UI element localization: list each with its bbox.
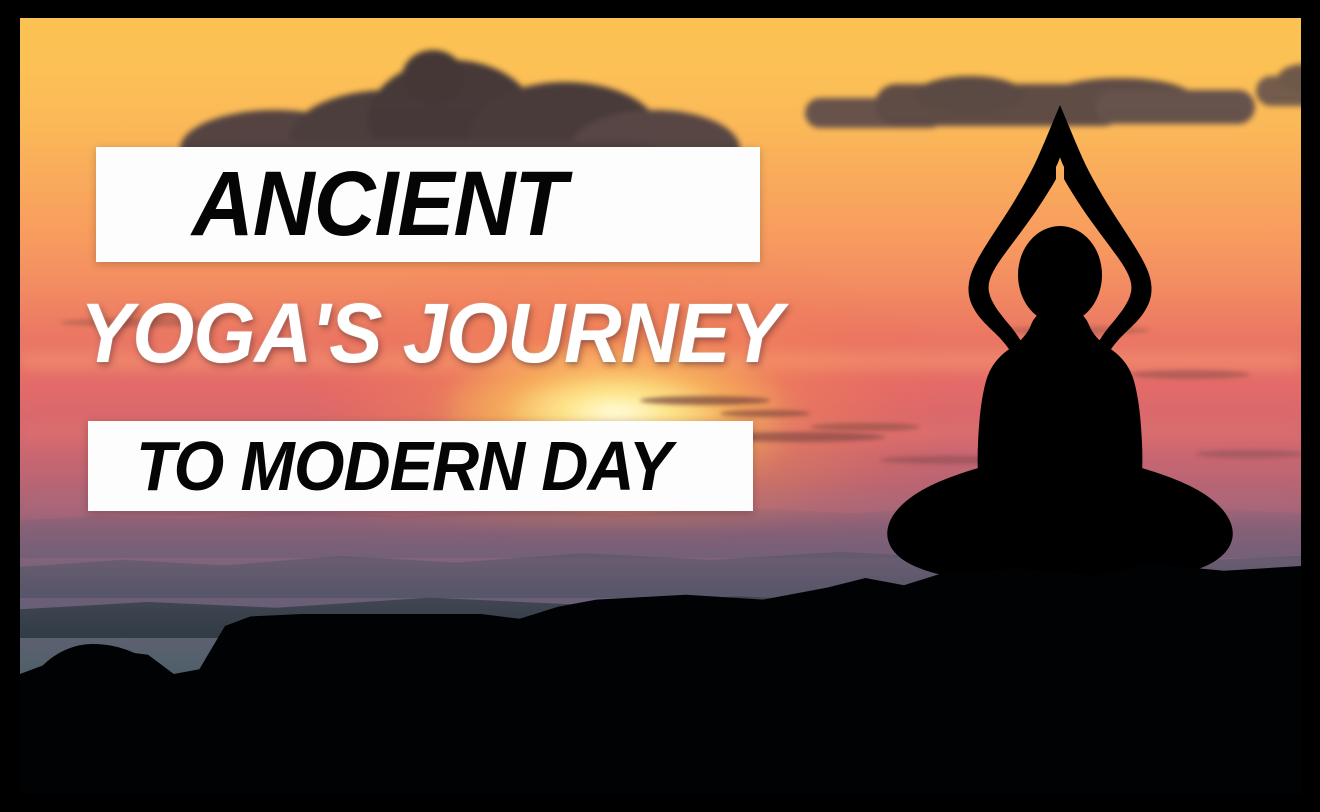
title-line-2: YOGA'S JOURNEY (80, 290, 890, 378)
background-photo: ANCIENT YOGA'S JOURNEY TO MODERN DAY (20, 18, 1301, 794)
title-line-3-box: TO MODERN DAY (88, 421, 753, 511)
thumbnail-root: ANCIENT YOGA'S JOURNEY TO MODERN DAY (0, 0, 1320, 812)
title-stack: ANCIENT YOGA'S JOURNEY TO MODERN DAY (20, 18, 1301, 794)
title-line-1-text: ANCIENT (192, 161, 566, 248)
title-line-2-text: YOGA'S JOURNEY (80, 294, 782, 374)
title-line-1-box: ANCIENT (96, 147, 760, 262)
title-line-3-text: TO MODERN DAY (136, 433, 671, 500)
